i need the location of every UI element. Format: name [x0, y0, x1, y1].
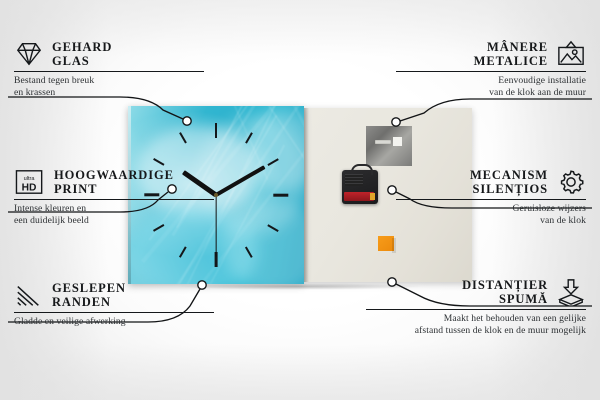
callout-gehard-glas[interactable]: GEHARD GLAS Bestand tegen breuk en krass… [14, 40, 204, 98]
callout-subtitle-line1: Gladde en veilige afwerking [14, 316, 214, 328]
ultra-hd-icon: ultra HD [14, 168, 46, 196]
callout-header: GEHARD GLAS [14, 40, 204, 68]
clock-second-hand [215, 195, 216, 257]
callout-divider [366, 309, 586, 310]
callout-divider [14, 71, 204, 72]
callout-title: GESLEPEN RANDEN [52, 281, 126, 309]
gear-icon [556, 168, 586, 196]
callout-geslepen-randen[interactable]: GESLEPEN RANDEN Gladde en veilige afwerk… [14, 281, 214, 328]
callout-header: DISTANȚIER SPUMĂ [366, 278, 586, 306]
callout-divider [396, 199, 586, 200]
callout-title: DISTANȚIER SPUMĂ [462, 278, 548, 306]
callout-subtitle-line2: van de klok [396, 215, 586, 227]
callout-title: GEHARD GLAS [52, 40, 112, 68]
metal-hanger [366, 126, 412, 166]
clock-tick [273, 194, 288, 197]
callout-subtitle-line1: Geruisloze wijzers [396, 203, 586, 215]
callout-subtitle-line2: afstand tussen de klok en de muur mogeli… [366, 325, 586, 337]
clock-tick [215, 123, 218, 138]
callout-divider [396, 71, 586, 72]
quartz-movement [342, 170, 378, 204]
callout-subtitle-line1: Bestand tegen breuk [14, 75, 204, 87]
hanger-slot [375, 140, 391, 144]
callout-subtitle-line1: Maakt het behouden van een gelijke [366, 313, 586, 325]
clock-center-cap [214, 193, 218, 197]
callout-title: HOOGWAARDIGE PRINT [54, 168, 174, 196]
callout-title: MECANISM SILENȚIOS [470, 168, 548, 196]
callout-divider [14, 199, 214, 200]
diamond-icon [14, 40, 44, 68]
callout-header: ultra HD HOOGWAARDIGE PRINT [14, 168, 214, 196]
beveled-edges-icon [14, 281, 44, 309]
callout-subtitle-line2: en krassen [14, 87, 204, 99]
svg-text:HD: HD [22, 182, 37, 193]
battery [344, 192, 374, 201]
callout-subtitle-line1: Eenvoudige installatie [396, 75, 586, 87]
hanger-slot-secondary [393, 137, 402, 146]
callout-subtitle-line2: een duidelijk beeld [14, 215, 214, 227]
infographic-canvas: GEHARD GLAS Bestand tegen breuk en krass… [0, 0, 600, 400]
callout-header: MECANISM SILENȚIOS [396, 168, 586, 196]
callout-title: MÂNERE METALICE [474, 40, 548, 68]
callout-mecanism-silentios[interactable]: MECANISM SILENȚIOS Geruisloze wijzers va… [396, 168, 586, 226]
callout-divider [14, 312, 214, 313]
callout-hoogwaardige-print[interactable]: ultra HD HOOGWAARDIGE PRINT Intense kleu… [14, 168, 214, 226]
callout-subtitle-line1: Intense kleuren en [14, 203, 214, 215]
callout-distantier-spuma[interactable]: DISTANȚIER SPUMĂ Maakt het behouden van … [366, 278, 586, 336]
callout-header: MÂNERE METALICE [396, 40, 586, 68]
foam-spacer [378, 236, 394, 251]
spacer-arrow-icon [556, 278, 586, 306]
svg-text:ultra: ultra [24, 176, 36, 182]
callout-manere-metalice[interactable]: MÂNERE METALICE Eenvoudige installatie v… [396, 40, 586, 98]
picture-frame-icon [556, 40, 586, 68]
movement-ridges [345, 174, 363, 186]
callout-header: GESLEPEN RANDEN [14, 281, 214, 309]
callout-subtitle-line2: van de klok aan de muur [396, 87, 586, 99]
